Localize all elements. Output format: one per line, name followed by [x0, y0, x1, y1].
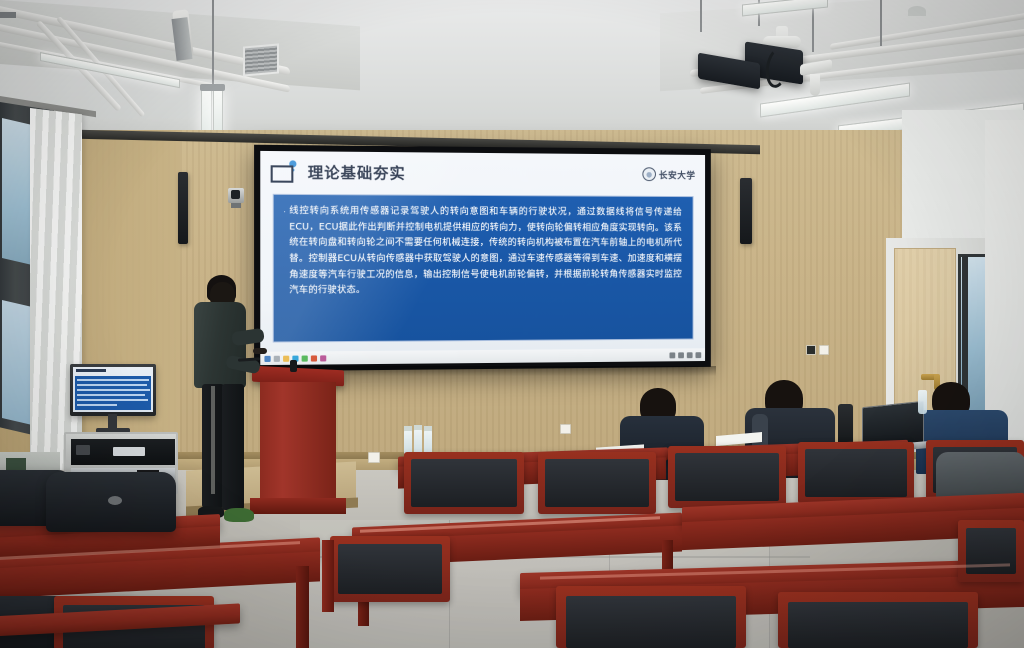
pc-front-panel — [113, 447, 145, 456]
chair-backrest-pad — [675, 453, 779, 501]
presenter-hand — [253, 348, 267, 354]
chair-back[interactable] — [778, 592, 978, 648]
chair-backrest-pad — [788, 602, 968, 648]
monitor-slide-body — [75, 376, 151, 410]
chair-backrest-pad — [805, 449, 907, 497]
smoke-detector — [908, 6, 926, 16]
clock-icon[interactable] — [695, 352, 701, 358]
chair-back[interactable] — [330, 536, 450, 602]
chair-logo-badge — [108, 496, 122, 505]
chair-backrest-pad — [411, 459, 517, 507]
ceiling-rod — [880, 0, 882, 46]
university-name: 长安大学 — [659, 168, 696, 181]
media-icon[interactable] — [320, 355, 326, 361]
slide-header: 理论基础夯实 长安大学 — [260, 151, 705, 194]
wall-outlet[interactable] — [806, 345, 816, 355]
camera-lens-icon — [231, 190, 240, 199]
folder-icon[interactable] — [283, 355, 289, 361]
lecture-hall-photo: 理论基础夯实 长安大学 · 线控转向系统用传感器记录驾驶人的转向意图和车辆的行驶… — [0, 0, 1024, 648]
projection-screen[interactable]: 理论基础夯实 长安大学 · 线控转向系统用传感器记录驾驶人的转向意图和车辆的行驶… — [254, 145, 711, 372]
pendant-cap — [200, 84, 225, 91]
wall-right-edge — [985, 120, 1024, 440]
lectern-microphone — [290, 360, 297, 372]
presenter-monitor[interactable] — [70, 364, 156, 416]
chair-backrest-pad — [338, 544, 442, 594]
air-vent — [243, 43, 279, 76]
chair-back[interactable] — [556, 586, 746, 648]
windows-taskbar[interactable] — [260, 348, 705, 365]
presenter-leg-right — [222, 384, 244, 510]
wall-outlet[interactable] — [560, 424, 571, 434]
university-seal-icon — [642, 167, 656, 181]
lectern-body — [260, 382, 336, 504]
wall-outlet[interactable] — [819, 345, 829, 355]
wall-outlet[interactable] — [368, 452, 380, 463]
lectern-base — [250, 498, 346, 514]
screen-display: 理论基础夯实 长安大学 · 线控转向系统用传感器记录驾驶人的转向意图和车辆的行驶… — [260, 151, 705, 365]
university-logo: 长安大学 — [642, 167, 695, 181]
open-book-idea-icon — [271, 163, 296, 179]
search-icon[interactable] — [274, 355, 280, 361]
pc-drive-bay — [76, 445, 90, 455]
slide-body-text: 线控转向系统用传感器记录驾驶人的转向意图和车辆的行驶状况，通过数据线将信号传递给… — [289, 204, 682, 299]
desk-leg — [296, 566, 309, 648]
monitor-title-line — [76, 369, 106, 372]
chair-back[interactable] — [404, 452, 524, 514]
wechat-icon[interactable] — [302, 355, 308, 361]
wall-camera — [228, 188, 244, 203]
volume-icon[interactable] — [678, 352, 684, 358]
bottle-cap — [424, 426, 432, 431]
chair-arm — [322, 540, 334, 612]
pipe-bracket — [0, 12, 16, 18]
ceiling-rod — [700, 0, 702, 32]
thermos-bottle — [838, 404, 853, 444]
presenter-shoe — [224, 508, 254, 522]
network-icon[interactable] — [669, 352, 675, 358]
taskbar-tray[interactable] — [669, 352, 701, 358]
ime-icon[interactable] — [687, 352, 693, 358]
camera-mount — [231, 203, 241, 208]
chair-back[interactable] — [668, 446, 786, 508]
rack-pc-slot — [71, 439, 175, 465]
pendant-rod — [212, 0, 214, 88]
trouser-stripe — [211, 386, 215, 494]
slide-title: 理论基础夯实 — [308, 161, 406, 183]
chair-back[interactable] — [958, 520, 1024, 582]
slide-bullet-marker: · — [283, 204, 286, 300]
bottle-cap — [404, 426, 412, 431]
curtain-tie — [56, 290, 60, 352]
wall-speaker — [740, 178, 752, 244]
water-bottle — [918, 390, 927, 414]
start-icon[interactable] — [264, 355, 270, 361]
monitor-screen — [73, 367, 153, 412]
chair-backrest-pad — [566, 596, 736, 648]
wall-speaker — [178, 172, 188, 244]
chair-back[interactable] — [538, 452, 656, 514]
bottle-cap — [414, 425, 422, 430]
chair-backrest-pad — [545, 459, 649, 507]
conduit-elbow — [810, 74, 820, 96]
slide-content-box: · 线控转向系统用传感器记录驾驶人的转向意图和车辆的行驶状况，通过数据线将信号传… — [273, 194, 694, 343]
ppt-icon[interactable] — [311, 355, 317, 361]
chair-back[interactable] — [798, 442, 914, 504]
